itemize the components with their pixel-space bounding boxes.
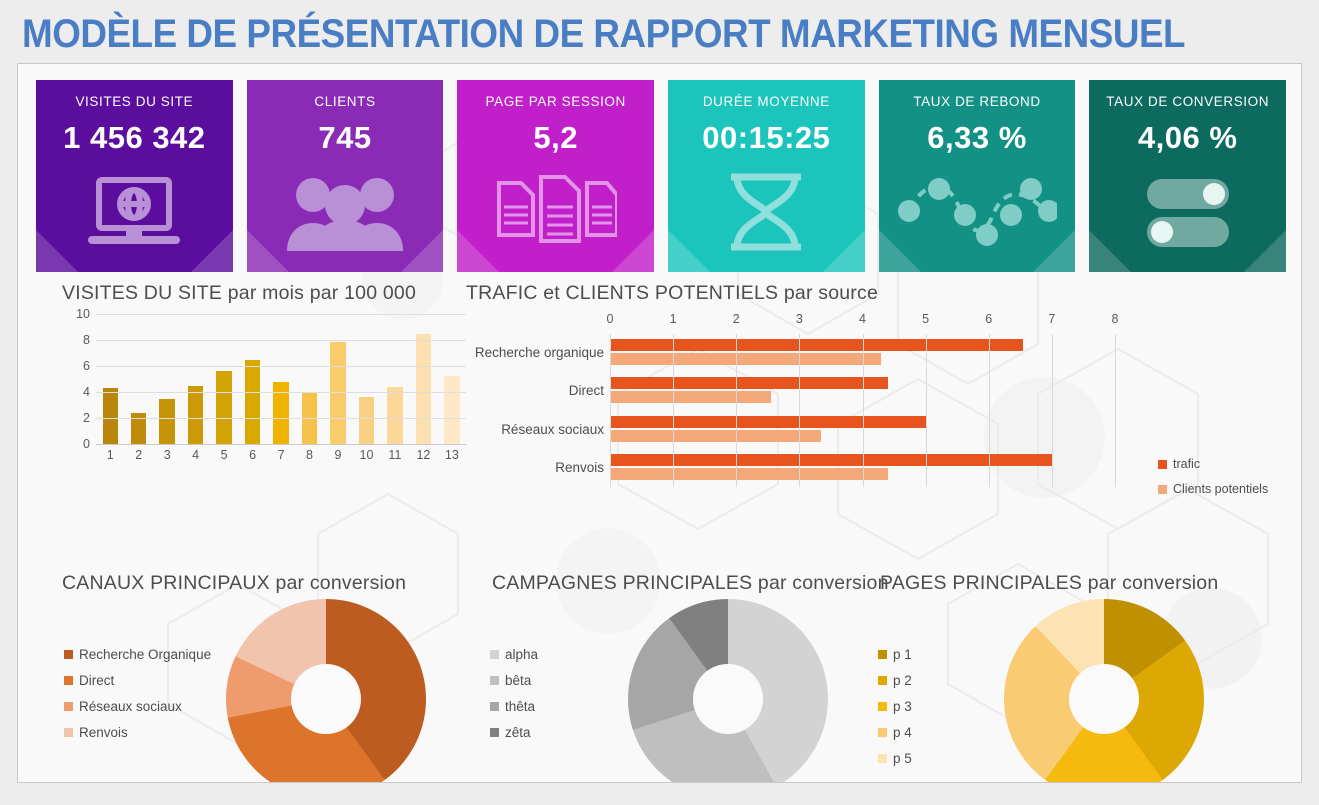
x-tick: 3 <box>796 312 803 326</box>
corner-accent-left <box>668 230 710 272</box>
gridline <box>96 340 466 341</box>
chart-site-visits-by-month: 1086420 12345678910111213 <box>66 314 466 474</box>
x-tick: 4 <box>859 312 866 326</box>
x-tick: 12 <box>409 448 437 462</box>
slide-canvas: MODÈLE DE PRÉSENTATION DE RAPPORT MARKET… <box>0 0 1319 805</box>
gridline <box>989 334 990 487</box>
bar-column[interactable] <box>267 314 295 444</box>
legend-swatch <box>64 676 73 685</box>
x-tick: 8 <box>295 448 323 462</box>
bar[interactable] <box>610 339 1023 351</box>
legend-item[interactable]: Recherche Organique <box>64 647 211 662</box>
y-tick: 6 <box>83 359 90 373</box>
legend-item[interactable]: p 5 <box>878 751 912 766</box>
chart-top-pages-by-conversion: p 1p 2p 3p 4p 5 <box>856 569 1286 783</box>
bar-series <box>96 314 466 444</box>
bar-rows <box>610 334 1170 487</box>
bar-column[interactable] <box>210 314 238 444</box>
x-tick: 6 <box>985 312 992 326</box>
kpi-label: DURÉE MOYENNE <box>668 94 865 109</box>
bar-row[interactable] <box>610 415 1170 445</box>
legend-item[interactable]: alpha <box>490 647 538 662</box>
bar[interactable] <box>610 377 888 389</box>
legend-label: thêta <box>505 699 535 714</box>
gridline <box>1052 334 1053 487</box>
bar-row[interactable] <box>610 453 1170 483</box>
bar-column[interactable] <box>352 314 380 444</box>
donut-hole <box>693 664 763 734</box>
donut-hole <box>1069 664 1139 734</box>
bar-column[interactable] <box>295 314 323 444</box>
kpi-value: 4,06 % <box>1089 120 1286 156</box>
x-tick: 10 <box>352 448 380 462</box>
legend-label: alpha <box>505 647 538 662</box>
gridline <box>736 334 737 487</box>
legend-label: p 1 <box>893 647 912 662</box>
kpi-value: 1 456 342 <box>36 120 233 156</box>
kpi-card-row: VISITES DU SITE 1 456 342 CLIENTS 745 <box>36 80 1286 272</box>
legend-swatch <box>878 650 887 659</box>
bar[interactable] <box>245 360 260 444</box>
legend-label: trafic <box>1173 457 1200 471</box>
x-tick: 0 <box>607 312 614 326</box>
gridline <box>610 334 611 487</box>
legend-item[interactable]: Renvois <box>64 725 211 740</box>
y-tick: 4 <box>83 385 90 399</box>
donut-hole <box>291 664 361 734</box>
legend-label: Clients potentiels <box>1173 482 1268 496</box>
x-tick: 13 <box>438 448 466 462</box>
bar[interactable] <box>610 416 926 428</box>
legend-item[interactable]: Direct <box>64 673 211 688</box>
bar-column[interactable] <box>96 314 124 444</box>
kpi-label: CLIENTS <box>247 94 444 109</box>
legend-label: Renvois <box>79 725 128 740</box>
bar[interactable] <box>387 387 402 444</box>
kpi-value: 745 <box>247 120 444 156</box>
kpi-card-site-visits[interactable]: VISITES DU SITE 1 456 342 <box>36 80 233 272</box>
legend-item[interactable]: thêta <box>490 699 538 714</box>
y-tick: 8 <box>83 333 90 347</box>
gridline <box>96 418 466 419</box>
legend-swatch <box>490 728 499 737</box>
corner-accent-right <box>191 230 233 272</box>
gridline <box>926 334 927 487</box>
x-tick: 8 <box>1112 312 1119 326</box>
bar-column[interactable] <box>381 314 409 444</box>
legend-swatch <box>490 676 499 685</box>
plot-area <box>610 334 1170 487</box>
legend-label: p 3 <box>893 699 912 714</box>
kpi-label: TAUX DE REBOND <box>879 94 1076 109</box>
chart-legend-traffic[interactable]: traficClients potentiels <box>1158 457 1302 507</box>
legend-label: bêta <box>505 673 531 688</box>
x-tick: 7 <box>1048 312 1055 326</box>
bar-row[interactable] <box>610 376 1170 406</box>
kpi-label: TAUX DE CONVERSION <box>1089 94 1286 109</box>
kpi-label: VISITES DU SITE <box>36 94 233 109</box>
kpi-card-pages-per-session[interactable]: PAGE PAR SESSION 5,2 <box>457 80 654 272</box>
gridline <box>863 334 864 487</box>
bar[interactable] <box>610 468 888 480</box>
legend-swatch <box>490 702 499 711</box>
corner-accent-left <box>457 230 499 272</box>
x-tick: 7 <box>267 448 295 462</box>
legend-label: zêta <box>505 725 531 740</box>
bar-row[interactable] <box>610 338 1170 368</box>
bar[interactable] <box>188 386 203 444</box>
legend-swatch <box>878 728 887 737</box>
corner-accent-left <box>247 230 289 272</box>
legend-label: Réseaux sociaux <box>79 699 182 714</box>
bar-column[interactable] <box>124 314 152 444</box>
legend-label: p 4 <box>893 725 912 740</box>
legend-label: p 2 <box>893 673 912 688</box>
kpi-value: 6,33 % <box>879 120 1076 156</box>
legend-item[interactable]: zêta <box>490 725 538 740</box>
x-tick: 1 <box>96 448 124 462</box>
x-tick: 6 <box>238 448 266 462</box>
legend-item[interactable]: p 4 <box>878 725 912 740</box>
bar[interactable] <box>159 399 174 445</box>
legend-item[interactable]: trafic <box>1158 457 1302 471</box>
plot-area <box>96 314 466 445</box>
x-axis-ticks: 12345678910111213 <box>96 448 466 462</box>
kpi-card-bounce-rate[interactable]: TAUX DE REBOND 6,33 % <box>879 80 1076 272</box>
legend-swatch <box>878 754 887 763</box>
gridline <box>1115 334 1116 487</box>
corner-accent-right <box>823 230 865 272</box>
x-tick: 2 <box>733 312 740 326</box>
legend-item[interactable]: p 1 <box>878 647 912 662</box>
legend-swatch <box>64 702 73 711</box>
chart-top-channels-by-conversion: Recherche OrganiqueDirectRéseaux sociaux… <box>42 569 452 783</box>
category-label: Renvois <box>470 453 604 483</box>
corner-accent-right <box>401 230 443 272</box>
gridline <box>96 314 466 315</box>
legend-item[interactable]: p 3 <box>878 699 912 714</box>
kpi-card-conversion-rate[interactable]: TAUX DE CONVERSION 4,06 % <box>1089 80 1286 272</box>
bar[interactable] <box>610 454 1052 466</box>
bar[interactable] <box>359 397 374 444</box>
bar[interactable] <box>103 388 118 444</box>
kpi-card-clients[interactable]: CLIENTS 745 <box>247 80 444 272</box>
corner-accent-right <box>612 230 654 272</box>
dashboard-frame: VISITES DU SITE 1 456 342 CLIENTS 745 <box>17 63 1302 783</box>
page-title: MODÈLE DE PRÉSENTATION DE RAPPORT MARKET… <box>22 12 1200 60</box>
legend-label: Recherche Organique <box>79 647 211 662</box>
bar[interactable] <box>610 353 881 365</box>
legend-swatch <box>1158 485 1167 494</box>
legend-swatch <box>64 728 73 737</box>
bar-column[interactable] <box>153 314 181 444</box>
bar-column[interactable] <box>438 314 466 444</box>
category-label: Réseaux sociaux <box>470 415 604 445</box>
bar-column[interactable] <box>409 314 437 444</box>
y-tick: 2 <box>83 411 90 425</box>
gridline <box>96 366 466 367</box>
legend-item[interactable]: Clients potentiels <box>1158 482 1302 496</box>
chart-title-site-visits: VISITES DU SITE par mois par 100 000 <box>62 282 416 305</box>
corner-accent-left <box>879 230 921 272</box>
x-axis-ticks: 012345678 <box>610 312 1170 330</box>
corner-accent-left <box>36 230 78 272</box>
bar-column[interactable] <box>324 314 352 444</box>
legend-item[interactable]: p 2 <box>878 673 912 688</box>
x-tick: 9 <box>324 448 352 462</box>
category-labels: Recherche organiqueDirectRéseaux sociaux… <box>470 334 604 487</box>
kpi-label: PAGE PAR SESSION <box>457 94 654 109</box>
legend-swatch <box>878 702 887 711</box>
bar[interactable] <box>416 334 431 445</box>
y-axis-ticks: 1086420 <box>66 314 90 444</box>
bar[interactable] <box>610 391 771 403</box>
x-tick: 11 <box>381 448 409 462</box>
chart-legend-pages[interactable]: p 1p 2p 3p 4p 5 <box>878 647 912 777</box>
kpi-card-average-duration[interactable]: DURÉE MOYENNE 00:15:25 <box>668 80 865 272</box>
chart-legend-campaigns[interactable]: alphabêtathêtazêta <box>490 647 538 751</box>
y-tick: 0 <box>83 437 90 451</box>
x-tick: 4 <box>181 448 209 462</box>
bar[interactable] <box>273 382 288 444</box>
legend-swatch <box>64 650 73 659</box>
x-tick: 1 <box>670 312 677 326</box>
chart-traffic-and-leads-by-source: 012345678 Recherche organiqueDirectRésea… <box>470 312 1170 487</box>
gridline <box>799 334 800 487</box>
bar[interactable] <box>610 430 821 442</box>
legend-label: Direct <box>79 673 114 688</box>
legend-swatch <box>490 650 499 659</box>
bar[interactable] <box>216 371 231 444</box>
bar-column[interactable] <box>238 314 266 444</box>
donut-pages[interactable] <box>1004 599 1204 783</box>
legend-item[interactable]: bêta <box>490 673 538 688</box>
x-tick: 5 <box>210 448 238 462</box>
x-tick: 2 <box>124 448 152 462</box>
chart-legend-channels[interactable]: Recherche OrganiqueDirectRéseaux sociaux… <box>64 647 211 751</box>
bar[interactable] <box>444 376 459 444</box>
legend-item[interactable]: Réseaux sociaux <box>64 699 211 714</box>
gridline <box>673 334 674 487</box>
legend-label: p 5 <box>893 751 912 766</box>
donut-campaigns[interactable] <box>628 599 828 783</box>
legend-swatch <box>878 676 887 685</box>
legend-swatch <box>1158 460 1167 469</box>
corner-accent-left <box>1089 230 1131 272</box>
bar-column[interactable] <box>181 314 209 444</box>
donut-channels[interactable] <box>226 599 426 783</box>
corner-accent-right <box>1033 230 1075 272</box>
kpi-value: 00:15:25 <box>668 120 865 156</box>
gridline <box>96 392 466 393</box>
chart-title-traffic-leads: TRAFIC et CLIENTS POTENTIELS par source <box>466 282 878 305</box>
chart-top-campaigns-by-conversion: alphabêtathêtazêta <box>468 569 888 783</box>
kpi-value: 5,2 <box>457 120 654 156</box>
y-tick: 10 <box>76 307 90 321</box>
x-tick: 5 <box>922 312 929 326</box>
category-label: Recherche organique <box>470 338 604 368</box>
x-tick: 3 <box>153 448 181 462</box>
category-label: Direct <box>470 376 604 406</box>
corner-accent-right <box>1244 230 1286 272</box>
